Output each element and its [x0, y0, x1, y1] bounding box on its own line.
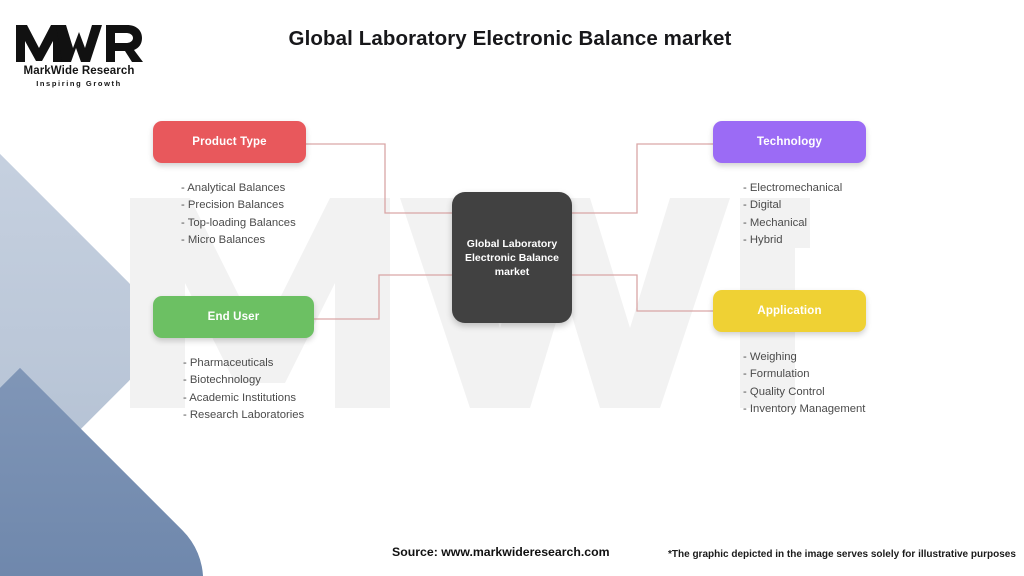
- category-end-user: End User - Pharmaceuticals - Biotechnolo…: [153, 296, 314, 424]
- list-item: - Mechanical: [743, 215, 866, 232]
- category-label-end-user: End User: [208, 311, 260, 323]
- list-item: - Top-loading Balances: [181, 215, 306, 232]
- center-node: Global Laboratory Electronic Balance mar…: [452, 192, 572, 323]
- category-items-application: - Weighing - Formulation - Quality Contr…: [713, 349, 866, 418]
- category-application: Application - Weighing - Formulation - Q…: [713, 290, 866, 418]
- connector-end-user: [314, 275, 452, 319]
- category-product-type: Product Type - Analytical Balances - Pre…: [153, 121, 306, 249]
- connector-product-type: [306, 144, 452, 213]
- category-items-product-type: - Analytical Balances - Precision Balanc…: [153, 180, 306, 249]
- list-item: - Academic Institutions: [183, 390, 314, 407]
- connector-technology: [572, 144, 713, 213]
- category-pill-application[interactable]: Application: [713, 290, 866, 332]
- category-pill-technology[interactable]: Technology: [713, 121, 866, 163]
- list-item: - Hybrid: [743, 232, 866, 249]
- category-pill-product-type[interactable]: Product Type: [153, 121, 306, 163]
- list-item: - Quality Control: [743, 384, 866, 401]
- disclaimer-note: *The graphic depicted in the image serve…: [668, 549, 1016, 560]
- list-item: - Research Laboratories: [183, 407, 314, 424]
- category-label-product-type: Product Type: [192, 136, 266, 148]
- list-item: - Electromechanical: [743, 180, 866, 197]
- infographic-canvas: MarkWide Research Inspiring Growth Globa…: [0, 0, 1024, 576]
- list-item: - Weighing: [743, 349, 866, 366]
- category-items-end-user: - Pharmaceuticals - Biotechnology - Acad…: [153, 355, 314, 424]
- list-item: - Digital: [743, 197, 866, 214]
- list-item: - Pharmaceuticals: [183, 355, 314, 372]
- list-item: - Inventory Management: [743, 401, 866, 418]
- list-item: - Formulation: [743, 366, 866, 383]
- category-label-technology: Technology: [757, 136, 822, 148]
- center-node-label: Global Laboratory Electronic Balance mar…: [462, 237, 562, 279]
- category-items-technology: - Electromechanical - Digital - Mechanic…: [713, 180, 866, 249]
- category-technology: Technology - Electromechanical - Digital…: [713, 121, 866, 249]
- list-item: - Analytical Balances: [181, 180, 306, 197]
- connector-application: [572, 275, 713, 311]
- source-attribution: Source: www.markwideresearch.com: [392, 545, 610, 559]
- list-item: - Biotechnology: [183, 372, 314, 389]
- category-label-application: Application: [757, 305, 821, 317]
- list-item: - Precision Balances: [181, 197, 306, 214]
- category-pill-end-user[interactable]: End User: [153, 296, 314, 338]
- list-item: - Micro Balances: [181, 232, 306, 249]
